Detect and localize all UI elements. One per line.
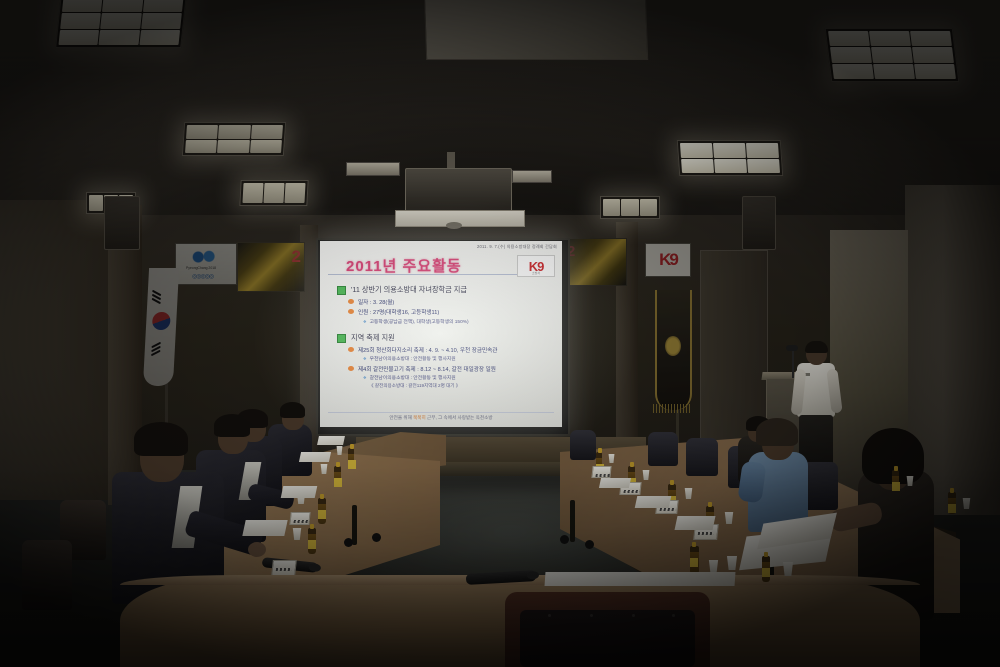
slide-header: 2011. 9. 7.(수) 의용소방대장 정례회 간담회 [477, 244, 557, 250]
ceiling-vent-small-left [346, 162, 400, 176]
bottle-4[interactable] [348, 448, 354, 466]
chair-right-1[interactable] [648, 432, 678, 466]
slide-footer-rule [328, 412, 554, 413]
table-caster-left-3 [344, 538, 353, 547]
table-leg-right-1 [570, 500, 575, 542]
slide-section-2-bullet-1-text: 제25회 청산회다지소리 축제 : 4. 9. ~ 4.10, 우천 장금민속관 [358, 346, 497, 354]
flag-emblem-icon [665, 336, 681, 356]
name-card-1 [271, 560, 297, 576]
ceremonial-unit-flag [655, 290, 692, 410]
wall-speaker-right [742, 196, 776, 250]
bottle-9[interactable] [690, 546, 699, 574]
slide-footer-suffix: 근무, 그 속에서 사랑받는 옥천소방 [426, 415, 493, 420]
slide-section-1-bullet-2: 인원 : 27명(대학생16, 고등학생11) [348, 308, 469, 316]
slide-footer-accent: 묵묵히 [413, 415, 426, 420]
korean-national-flag [143, 268, 179, 386]
paper-1 [242, 520, 287, 536]
presenter-at-podium [795, 343, 837, 469]
foreground-chair-back-panel [520, 610, 695, 667]
ceiling-light-6 [600, 196, 660, 219]
slide-section-2-heading: 지역 축제 지원 [351, 333, 395, 343]
ceiling-light-4 [677, 140, 784, 176]
left-wall [0, 200, 120, 500]
bottle-3[interactable] [334, 466, 341, 487]
paper-9 [675, 516, 716, 530]
taeguk-icon [152, 312, 171, 330]
presenter-hair [805, 341, 828, 353]
attendee-front-left-hand [248, 542, 266, 557]
bottle-10[interactable] [892, 470, 899, 490]
podium-mic-stand [792, 350, 794, 378]
table-caster-left-4 [372, 533, 381, 542]
slide-section-2-sub-2: 갈전남이의용소방대 : 안전활동 및 행사지원 [363, 374, 497, 381]
projector-lens [446, 222, 462, 229]
slide-section-1-bullet-1-text: 일자 : 3. 28(월) [358, 298, 394, 306]
k9-logo-subtext: 소방서 [532, 271, 540, 275]
flag-fringe [653, 404, 690, 413]
left-pillar [108, 205, 142, 505]
bottle-1[interactable] [308, 528, 316, 554]
bottle-11[interactable] [948, 492, 956, 514]
slide-section-2-note: 《 갈전의용소방대 : 갈전119지역대 2명 대기 》 [369, 383, 497, 389]
table-leg-left-2 [352, 505, 357, 545]
green-square-bullet-icon [337, 334, 346, 343]
ceiling-light-1 [55, 0, 187, 48]
orange-dot-icon [348, 309, 354, 314]
ceiling-light-3 [182, 122, 286, 156]
slide-section-1-bullet-2-text: 인원 : 27명(대학생16, 고등학생11) [358, 308, 439, 316]
paper-3 [299, 452, 331, 462]
slide-footer: 안전을 위해 묵묵히 근무, 그 속에서 사랑받는 옥천소방 [320, 415, 562, 421]
name-card-3 [591, 466, 611, 478]
slide-footer-prefix: 안전을 위해 [389, 415, 413, 420]
pyeongchang-olympic-poster: PyeongChang 2018 ◎◎◎◎◎ [175, 243, 237, 285]
slide-section-1: '11 상반기 의용소방대 자녀장학금 지급 일자 : 3. 28(월) 인원 … [337, 285, 469, 325]
chair-stud-4 [672, 614, 675, 617]
meeting-room-photo: PyeongChang 2018 ◎◎◎◎◎ 2 2 K9 2011. 9. 7… [0, 0, 1000, 667]
chair-right-6[interactable] [570, 430, 596, 460]
table-caster-right-1 [560, 535, 569, 544]
wall-banner-left: 2 [237, 242, 305, 292]
orange-dot-icon [348, 299, 354, 304]
slide-section-1-heading: '11 상반기 의용소방대 자녀장학금 지급 [351, 285, 467, 295]
olympic-emblem-icon [188, 250, 222, 264]
k9-poster-text: K9 [659, 250, 677, 270]
foreground-bottle[interactable] [762, 556, 770, 582]
slide-k9-logo: K9 소방서 [517, 255, 555, 277]
ceiling-vent-large [424, 0, 648, 60]
green-square-bullet-icon [337, 286, 346, 295]
paper-7 [599, 478, 631, 488]
paper-4 [317, 436, 345, 445]
foreground-papers [545, 572, 736, 586]
ceiling-light-2 [825, 28, 960, 82]
banner-number-left: 2 [292, 247, 301, 267]
wall-speaker-left [104, 196, 140, 250]
ceiling-projector [405, 168, 512, 216]
slide-section-1-heading-row: '11 상반기 의용소방대 자녀장학금 지급 [337, 285, 469, 295]
attendee-back-left-hair [280, 402, 305, 418]
olympic-poster-title: PyeongChang 2018 [186, 266, 216, 270]
attendee-front-left-hair [134, 422, 188, 456]
chair-right-2[interactable] [686, 438, 718, 476]
chair-left-2[interactable] [22, 540, 72, 610]
slide-section-1-bullet-1: 일자 : 3. 28(월) [348, 298, 469, 306]
table-caster-right-2 [585, 540, 594, 549]
orange-dot-icon [348, 347, 354, 352]
slide-title: 2011년 주요활동 [346, 255, 462, 276]
slide-section-1-sub-1: 고등학생(공납금 전액), 대학생(고등학생의 150%) [363, 318, 469, 325]
paper-2 [281, 486, 318, 498]
slide-section-2-bullet-2-text: 제4회 갈전민물고기 축제 : 8.12 ~ 8.14, 갈전 대일광장 일원 [358, 365, 496, 373]
paper-8 [635, 496, 672, 508]
projected-slide: 2011. 9. 7.(수) 의용소방대장 정례회 간담회 2011년 주요활동… [320, 241, 562, 427]
name-card-2 [289, 512, 310, 525]
k9-wall-poster: K9 [645, 243, 691, 277]
ceiling-vent-small-right [512, 170, 552, 183]
bottle-2[interactable] [318, 498, 326, 524]
olympic-rings-icon: ◎◎◎◎◎ [192, 273, 213, 280]
chair-stud-1 [548, 614, 551, 617]
chair-stud-3 [632, 614, 635, 617]
slide-section-2-bullet-2: 제4회 갈전민물고기 축제 : 8.12 ~ 8.14, 갈전 대일광장 일원 [348, 365, 497, 373]
wall-banner-right: 2 [563, 238, 627, 286]
attendee-second-left-hair [214, 414, 250, 437]
orange-dot-icon [348, 366, 354, 371]
slide-section-2-heading-row: 지역 축제 지원 [337, 333, 497, 343]
slide-section-2-sub-1: 우천남이의용소방대 : 안전활동 및 행사지원 [363, 355, 497, 362]
slide-section-2: 지역 축제 지원 제25회 청산회다지소리 축제 : 4. 9. ~ 4.10,… [337, 333, 497, 389]
slide-section-2-bullet-1: 제25회 청산회다지소리 축제 : 4. 9. ~ 4.10, 우천 장금민속관 [348, 346, 497, 354]
attendee-blue-shirt-hair [756, 418, 798, 446]
chair-stud-2 [590, 614, 593, 617]
ceiling-light-5 [239, 180, 308, 206]
